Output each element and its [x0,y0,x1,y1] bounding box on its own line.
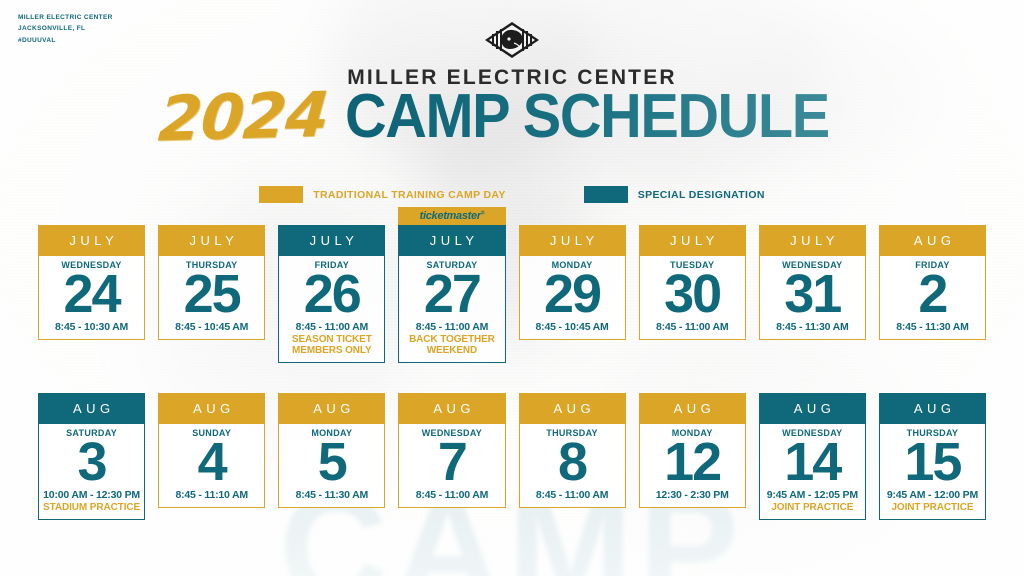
card-month: JULY [398,225,505,256]
card-time: 8:45 - 10:30 AM [55,321,128,333]
card-day-number: 8 [558,437,586,488]
card-day-number: 7 [438,437,466,488]
ticketmaster-logo-text: ticketmaster® [420,210,485,222]
card-month: AUG [639,393,746,424]
card-day-number: 31 [784,269,840,320]
card-day-number: 4 [198,437,226,488]
legend-item-special: SPECIAL DESIGNATION [584,186,765,203]
card-time: 8:45 - 11:30 AM [776,321,848,333]
card-body: MONDAY298:45 - 10:45 AM [519,256,626,340]
card-time: 10:00 AM - 12:30 PM [43,489,140,501]
card-day-number: 5 [318,437,346,488]
card-month: AUG [879,393,986,424]
card-month: AUG [759,393,866,424]
schedule-card[interactable]: AUGSUNDAY48:45 - 11:10 AM [158,393,265,520]
card-body: THURSDAY159:45 AM - 12:00 PMJOINT PRACTI… [879,424,986,520]
schedule-card[interactable]: AUGTHURSDAY88:45 - 11:00 AM [519,393,626,520]
schedule-card[interactable]: JULYWEDNESDAY318:45 - 11:30 AM [759,225,866,363]
card-time: 8:45 - 10:45 AM [536,321,609,333]
schedule-card[interactable]: AUGMONDAY1212:30 - 2:30 PM [639,393,746,520]
schedule-card[interactable]: JULYWEDNESDAY248:45 - 10:30 AM [38,225,145,363]
card-note: BACK TOGETHER WEEKEND [402,334,501,356]
card-body: THURSDAY258:45 - 10:45 AM [158,256,265,340]
card-body: SATURDAY310:00 AM - 12:30 PMSTADIUM PRAC… [38,424,145,520]
card-day-number: 29 [544,269,600,320]
card-body: SUNDAY48:45 - 11:10 AM [158,424,265,508]
card-note: JOINT PRACTICE [771,502,853,513]
card-month: AUG [519,393,626,424]
card-day-number: 14 [784,437,840,488]
card-month: JULY [158,225,265,256]
schedule-card[interactable]: AUGWEDNESDAY78:45 - 11:00 AM [398,393,505,520]
card-body: MONDAY1212:30 - 2:30 PM [639,424,746,508]
title-main: CAMP SCHEDULE [345,86,829,148]
card-day-number: 2 [918,269,946,320]
card-day-number: 25 [184,269,240,320]
card-body: THURSDAY88:45 - 11:00 AM [519,424,626,508]
card-note: SEASON TICKET MEMBERS ONLY [282,334,381,356]
card-day-number: 12 [664,437,720,488]
card-day-number: 30 [664,269,720,320]
jaguar-diamond-logo-icon [483,20,541,60]
card-body: MONDAY58:45 - 11:30 AM [278,424,385,508]
schedule-card[interactable]: AUGFRIDAY28:45 - 11:30 AM [879,225,986,363]
card-body: TUESDAY308:45 - 11:00 AM [639,256,746,340]
card-day-number: 26 [304,269,360,320]
card-time: 8:45 - 11:30 AM [296,489,368,501]
page-title: 2024 CAMP SCHEDULE [0,86,1024,148]
card-body: FRIDAY268:45 - 11:00 AMSEASON TICKET MEM… [278,256,385,363]
schedule-card[interactable]: JULYTUESDAY308:45 - 11:00 AM [639,225,746,363]
card-month: JULY [278,225,385,256]
card-time: 8:45 - 11:00 AM [416,489,488,501]
legend-label-traditional: TRADITIONAL TRAINING CAMP DAY [313,189,506,201]
card-month: JULY [519,225,626,256]
card-time: 8:45 - 11:00 AM [656,321,728,333]
card-body: WEDNESDAY149:45 AM - 12:05 PMJOINT PRACT… [759,424,866,520]
card-time: 8:45 - 11:10 AM [175,489,247,501]
card-time: 9:45 AM - 12:05 PM [767,489,858,501]
card-day-number: 24 [64,269,120,320]
card-month: AUG [278,393,385,424]
card-time: 8:45 - 11:00 AM [416,321,488,333]
card-note: JOINT PRACTICE [891,502,973,513]
schedule-card[interactable]: AUGWEDNESDAY149:45 AM - 12:05 PMJOINT PR… [759,393,866,520]
card-day-number: 27 [424,269,480,320]
card-body: WEDNESDAY78:45 - 11:00 AM [398,424,505,508]
legend: TRADITIONAL TRAINING CAMP DAY SPECIAL DE… [0,186,1024,203]
card-month: AUG [879,225,986,256]
card-time: 9:45 AM - 12:00 PM [887,489,978,501]
card-body: WEDNESDAY318:45 - 11:30 AM [759,256,866,340]
card-time: 8:45 - 11:00 AM [536,489,608,501]
schedule-card[interactable]: AUGMONDAY58:45 - 11:30 AM [278,393,385,520]
card-time: 8:45 - 11:00 AM [296,321,368,333]
schedule-card[interactable]: ticketmaster®JULYSATURDAY278:45 - 11:00 … [398,225,505,363]
card-month: AUG [38,393,145,424]
card-time: 8:45 - 11:30 AM [896,321,968,333]
card-body: WEDNESDAY248:45 - 10:30 AM [38,256,145,340]
card-month: JULY [38,225,145,256]
schedule-card[interactable]: JULYMONDAY298:45 - 10:45 AM [519,225,626,363]
schedule-card[interactable]: AUGSATURDAY310:00 AM - 12:30 PMSTADIUM P… [38,393,145,520]
legend-swatch-teal [584,186,628,203]
card-time: 12:30 - 2:30 PM [656,489,729,501]
card-time: 8:45 - 10:45 AM [175,321,248,333]
legend-item-traditional: TRADITIONAL TRAINING CAMP DAY [259,186,506,203]
card-month: JULY [759,225,866,256]
card-body: SATURDAY278:45 - 11:00 AMBACK TOGETHER W… [398,256,505,363]
card-note: STADIUM PRACTICE [43,502,140,513]
card-day-number: 15 [904,437,960,488]
card-day-number: 3 [78,437,106,488]
miller-electric-center-logo: MILLER ELECTRIC CENTER [0,20,1024,90]
schedule-row-1: JULYWEDNESDAY248:45 - 10:30 AMJULYTHURSD… [38,225,986,363]
title-year: 2024 [156,85,330,149]
ticketmaster-banner: ticketmaster® [398,207,505,225]
card-month: AUG [158,393,265,424]
card-month: AUG [398,393,505,424]
card-body: FRIDAY28:45 - 11:30 AM [879,256,986,340]
schedule-card[interactable]: AUGTHURSDAY159:45 AM - 12:00 PMJOINT PRA… [879,393,986,520]
schedule-card[interactable]: JULYFRIDAY268:45 - 11:00 AMSEASON TICKET… [278,225,385,363]
schedule-row-2: AUGSATURDAY310:00 AM - 12:30 PMSTADIUM P… [38,393,986,520]
schedule-card[interactable]: JULYTHURSDAY258:45 - 10:45 AM [158,225,265,363]
card-month: JULY [639,225,746,256]
legend-swatch-gold [259,186,303,203]
legend-label-special: SPECIAL DESIGNATION [638,189,765,201]
